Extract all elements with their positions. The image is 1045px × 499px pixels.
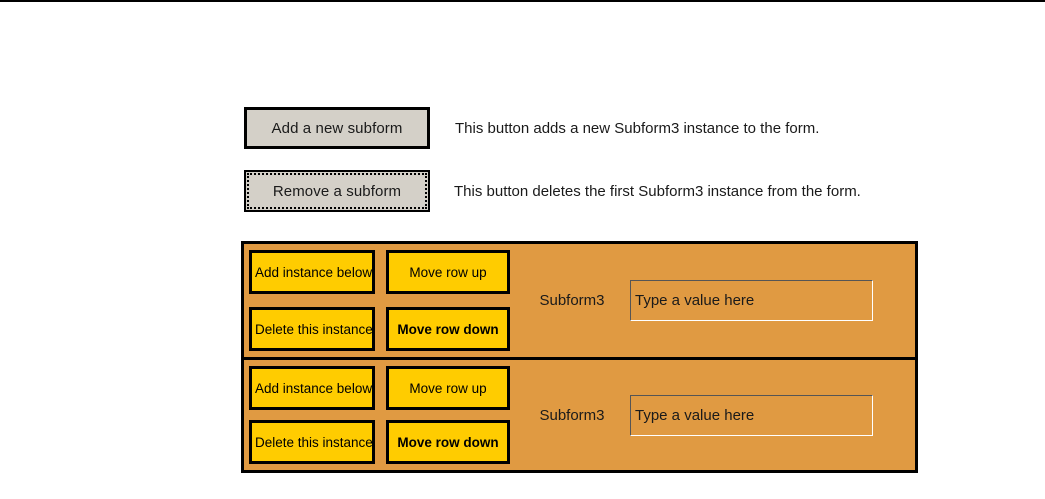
page-top-rule xyxy=(0,0,1045,2)
delete-this-instance-button[interactable]: Delete this instance xyxy=(249,307,375,351)
subform-instance-row: Add instance below Move row up Delete th… xyxy=(244,357,915,470)
row-controls: Add instance below Move row up Delete th… xyxy=(244,244,516,357)
delete-this-instance-button[interactable]: Delete this instance xyxy=(249,420,375,464)
move-row-down-button[interactable]: Move row down xyxy=(386,420,510,464)
add-subform-action-row: Add a new subform This button adds a new… xyxy=(244,107,819,149)
remove-subform-action-row: Remove a subform This button deletes the… xyxy=(244,170,861,212)
subform-instance-row: Add instance below Move row up Delete th… xyxy=(244,244,915,357)
remove-a-subform-button[interactable]: Remove a subform xyxy=(244,170,430,212)
add-instance-below-button[interactable]: Add instance below xyxy=(249,250,375,294)
subform-value-input[interactable]: Type a value here xyxy=(630,395,873,436)
move-row-up-button[interactable]: Move row up xyxy=(386,366,510,410)
move-row-up-button[interactable]: Move row up xyxy=(386,250,510,294)
add-instance-below-button[interactable]: Add instance below xyxy=(249,366,375,410)
remove-a-subform-description: This button deletes the first Subform3 i… xyxy=(454,183,861,200)
row-controls: Add instance below Move row up Delete th… xyxy=(244,360,516,470)
subform-instances-container: Add instance below Move row up Delete th… xyxy=(241,241,918,473)
move-row-down-button[interactable]: Move row down xyxy=(386,307,510,351)
add-a-new-subform-description: This button adds a new Subform3 instance… xyxy=(455,120,819,137)
add-a-new-subform-button[interactable]: Add a new subform xyxy=(244,107,430,149)
subform-label: Subform3 xyxy=(520,407,624,424)
subform-field-area: Subform3 Type a value here xyxy=(516,244,915,357)
subform-field-area: Subform3 Type a value here xyxy=(516,360,915,470)
subform-value-input[interactable]: Type a value here xyxy=(630,280,873,321)
subform-label: Subform3 xyxy=(520,292,624,309)
